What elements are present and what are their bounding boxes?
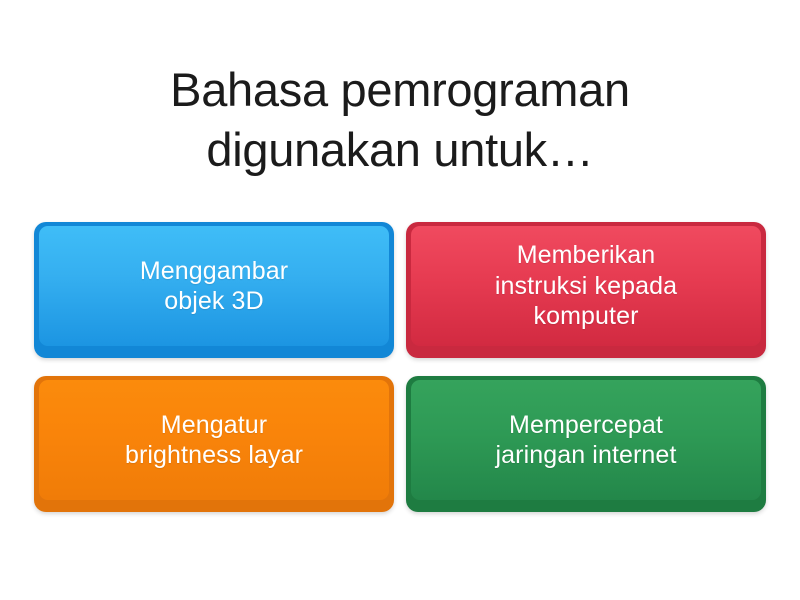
answer-options-grid: Menggambar objek 3D Memberikan instruksi… bbox=[34, 222, 766, 512]
question-area: Bahasa pemrograman digunakan untuk… bbox=[0, 60, 800, 180]
quiz-card: Bahasa pemrograman digunakan untuk… Meng… bbox=[0, 0, 800, 600]
answer-option-4-label: Mempercepat jaringan internet bbox=[496, 410, 677, 471]
answer-option-1[interactable]: Menggambar objek 3D bbox=[34, 222, 394, 358]
answer-option-2-face: Memberikan instruksi kepada komputer bbox=[411, 226, 761, 346]
question-text: Bahasa pemrograman digunakan untuk… bbox=[70, 60, 730, 180]
answer-option-1-face: Menggambar objek 3D bbox=[39, 226, 389, 346]
answer-option-3[interactable]: Mengatur brightness layar bbox=[34, 376, 394, 512]
answer-option-4[interactable]: Mempercepat jaringan internet bbox=[406, 376, 766, 512]
answer-option-2[interactable]: Memberikan instruksi kepada komputer bbox=[406, 222, 766, 358]
answer-option-3-face: Mengatur brightness layar bbox=[39, 380, 389, 500]
answer-option-1-label: Menggambar objek 3D bbox=[140, 256, 288, 317]
answer-option-2-label: Memberikan instruksi kepada komputer bbox=[495, 240, 677, 332]
answer-option-3-label: Mengatur brightness layar bbox=[125, 410, 303, 471]
answer-option-4-face: Mempercepat jaringan internet bbox=[411, 380, 761, 500]
